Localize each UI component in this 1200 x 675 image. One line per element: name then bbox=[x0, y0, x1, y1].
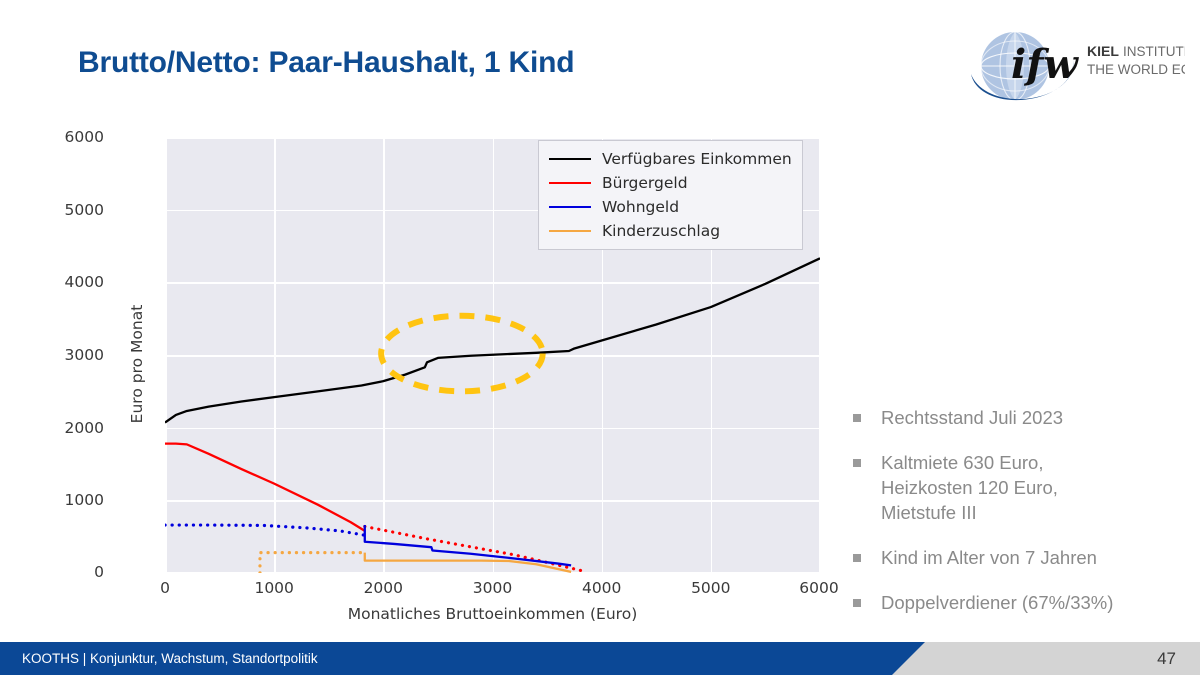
y-axis-tick: 6000 bbox=[0, 128, 104, 146]
x-axis-tick: 5000 bbox=[651, 579, 771, 597]
page-title: Brutto/Netto: Paar-Haushalt, 1 Kind bbox=[78, 46, 574, 80]
legend-label: Verfügbares Einkommen bbox=[602, 150, 792, 168]
legend-item[interactable]: Kinderzuschlag bbox=[549, 219, 792, 242]
legend-item[interactable]: Verfügbares Einkommen bbox=[549, 147, 792, 170]
page-number: 47 bbox=[1157, 642, 1176, 675]
svg-text:KIEL: KIEL bbox=[1087, 43, 1119, 59]
legend-label: Wohngeld bbox=[602, 198, 679, 216]
footer-bar: KOOTHS | Konjunktur, Wachstum, Standortp… bbox=[0, 642, 1200, 675]
x-axis-label: Monatliches Bruttoeinkommen (Euro) bbox=[165, 605, 820, 623]
series-line bbox=[165, 525, 365, 535]
y-axis-tick: 0 bbox=[0, 563, 104, 581]
y-axis-tick: 1000 bbox=[0, 491, 104, 509]
bullet-square-icon bbox=[853, 459, 861, 467]
svg-text:ifw: ifw bbox=[1011, 41, 1079, 88]
bullet-square-icon bbox=[853, 599, 861, 607]
x-axis-tick: 4000 bbox=[542, 579, 662, 597]
svg-text:THE WORLD ECONOMY: THE WORLD ECONOMY bbox=[1087, 62, 1185, 77]
slide-canvas: Brutto/Netto: Paar-Haushalt, 1 Kind ifw … bbox=[0, 0, 1200, 675]
legend-item[interactable]: Wohngeld bbox=[549, 195, 792, 218]
footer-author-text: KOOTHS | Konjunktur, Wachstum, Standortp… bbox=[22, 642, 318, 675]
y-axis-label: Euro pro Monat bbox=[128, 234, 146, 494]
bullet-square-icon bbox=[853, 414, 861, 422]
bullet-list: Rechtsstand Juli 2023 Kaltmiete 630 Euro… bbox=[853, 405, 1193, 635]
list-item: Doppelverdiener (67%/33%) bbox=[853, 590, 1193, 615]
list-item: Kind im Alter von 7 Jahren bbox=[853, 545, 1193, 570]
legend-label: Kinderzuschlag bbox=[602, 222, 720, 240]
bullet-text: Doppelverdiener (67%/33%) bbox=[881, 590, 1113, 615]
legend-swatch-wohngeld bbox=[549, 206, 591, 208]
ifw-kiel-logo: ifw KIEL INSTITUTE FOR THE WORLD ECONOMY bbox=[963, 22, 1185, 104]
list-item: Kaltmiete 630 Euro, Heizkosten 120 Euro,… bbox=[853, 450, 1193, 525]
series-line bbox=[165, 258, 820, 422]
x-axis-tick: 2000 bbox=[323, 579, 443, 597]
bullet-square-icon bbox=[853, 554, 861, 562]
x-axis-tick: 1000 bbox=[214, 579, 334, 597]
x-axis-tick: 3000 bbox=[433, 579, 553, 597]
chart-figure: 6000 5000 4000 3000 2000 1000 0 0 1000 2… bbox=[86, 118, 846, 630]
bullet-text: Kind im Alter von 7 Jahren bbox=[881, 545, 1097, 570]
chart-legend: Verfügbares Einkommen Bürgergeld Wohngel… bbox=[538, 140, 803, 250]
legend-swatch-kinderzuschlag bbox=[549, 230, 591, 232]
logo-institute-text: KIEL INSTITUTE FOR THE WORLD ECONOMY bbox=[1087, 43, 1185, 77]
y-axis-tick: 2000 bbox=[0, 419, 104, 437]
y-axis-tick: 5000 bbox=[0, 201, 104, 219]
series-line bbox=[165, 444, 365, 531]
legend-item[interactable]: Bürgergeld bbox=[549, 171, 792, 194]
y-axis-tick: 3000 bbox=[0, 346, 104, 364]
bullet-text: Kaltmiete 630 Euro, Heizkosten 120 Euro,… bbox=[881, 450, 1058, 525]
legend-swatch-buergergeld bbox=[549, 182, 591, 184]
y-axis-tick: 4000 bbox=[0, 273, 104, 291]
series-line bbox=[260, 553, 365, 573]
bullet-text: Rechtsstand Juli 2023 bbox=[881, 405, 1063, 430]
series-line bbox=[365, 525, 571, 565]
ifw-wordmark: ifw bbox=[1011, 41, 1079, 88]
legend-label: Bürgergeld bbox=[602, 174, 688, 192]
list-item: Rechtsstand Juli 2023 bbox=[853, 405, 1193, 430]
legend-swatch-verfuegbares-einkommen bbox=[549, 158, 591, 160]
svg-text:INSTITUTE FOR: INSTITUTE FOR bbox=[1123, 44, 1185, 59]
series-line bbox=[365, 526, 586, 571]
x-axis-tick: 0 bbox=[105, 579, 225, 597]
